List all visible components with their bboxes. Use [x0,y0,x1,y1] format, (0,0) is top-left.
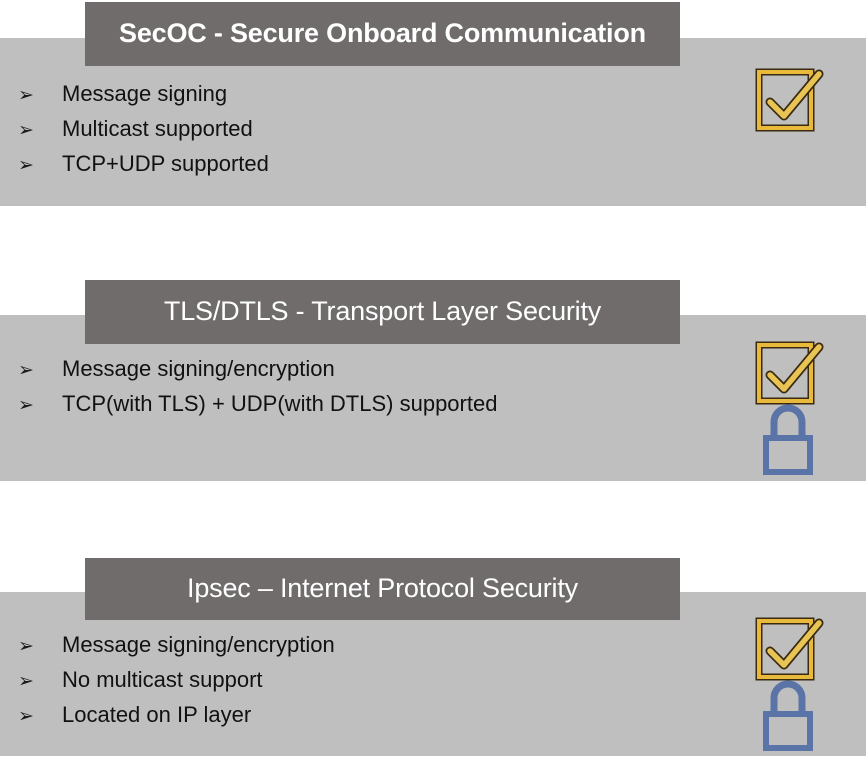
arrow-bullet-icon: ➢ [14,121,62,140]
list-item: ➢ TCP(with TLS) + UDP(with DTLS) support… [14,392,714,427]
list-item-label: TCP(with TLS) + UDP(with DTLS) supported [62,392,497,416]
arrow-bullet-icon: ➢ [14,156,62,175]
list-item: ➢ Message signing/encryption [14,633,714,668]
arrow-bullet-icon: ➢ [14,361,62,380]
list-item: ➢ Located on IP layer [14,703,714,738]
list-item-label: Located on IP layer [62,703,251,727]
arrow-bullet-icon: ➢ [14,396,62,415]
bullet-list-secoc: ➢ Message signing ➢ Multicast supported … [14,82,714,187]
section-title-tls-dtls: TLS/DTLS - Transport Layer Security [164,297,601,327]
list-item-label: TCP+UDP supported [62,152,269,176]
checkbox-icon [753,64,825,141]
list-item-label: Message signing/encryption [62,633,335,657]
arrow-bullet-icon: ➢ [14,672,62,691]
list-item: ➢ No multicast support [14,668,714,703]
list-item-label: Message signing/encryption [62,357,335,381]
bullet-list-ipsec: ➢ Message signing/encryption ➢ No multic… [14,633,714,738]
section-banner-ipsec: Ipsec – Internet Protocol Security [85,558,680,620]
list-item: ➢ Message signing [14,82,714,117]
arrow-bullet-icon: ➢ [14,707,62,726]
padlock-icon [758,400,818,483]
arrow-bullet-icon: ➢ [14,637,62,656]
padlock-icon [758,676,818,759]
arrow-bullet-icon: ➢ [14,86,62,105]
bullet-list-tls-dtls: ➢ Message signing/encryption ➢ TCP(with … [14,357,714,427]
list-item: ➢ TCP+UDP supported [14,152,714,187]
section-banner-tls-dtls: TLS/DTLS - Transport Layer Security [85,280,680,344]
list-item-label: Multicast supported [62,117,253,141]
section-title-ipsec: Ipsec – Internet Protocol Security [187,574,578,604]
list-item: ➢ Message signing/encryption [14,357,714,392]
list-item-label: No multicast support [62,668,263,692]
section-banner-secoc: SecOC - Secure Onboard Communication [85,2,680,66]
list-item: ➢ Multicast supported [14,117,714,152]
slide-canvas: SecOC - Secure Onboard Communication ➢ M… [0,0,866,756]
list-item-label: Message signing [62,82,227,106]
section-title-secoc: SecOC - Secure Onboard Communication [119,19,646,49]
